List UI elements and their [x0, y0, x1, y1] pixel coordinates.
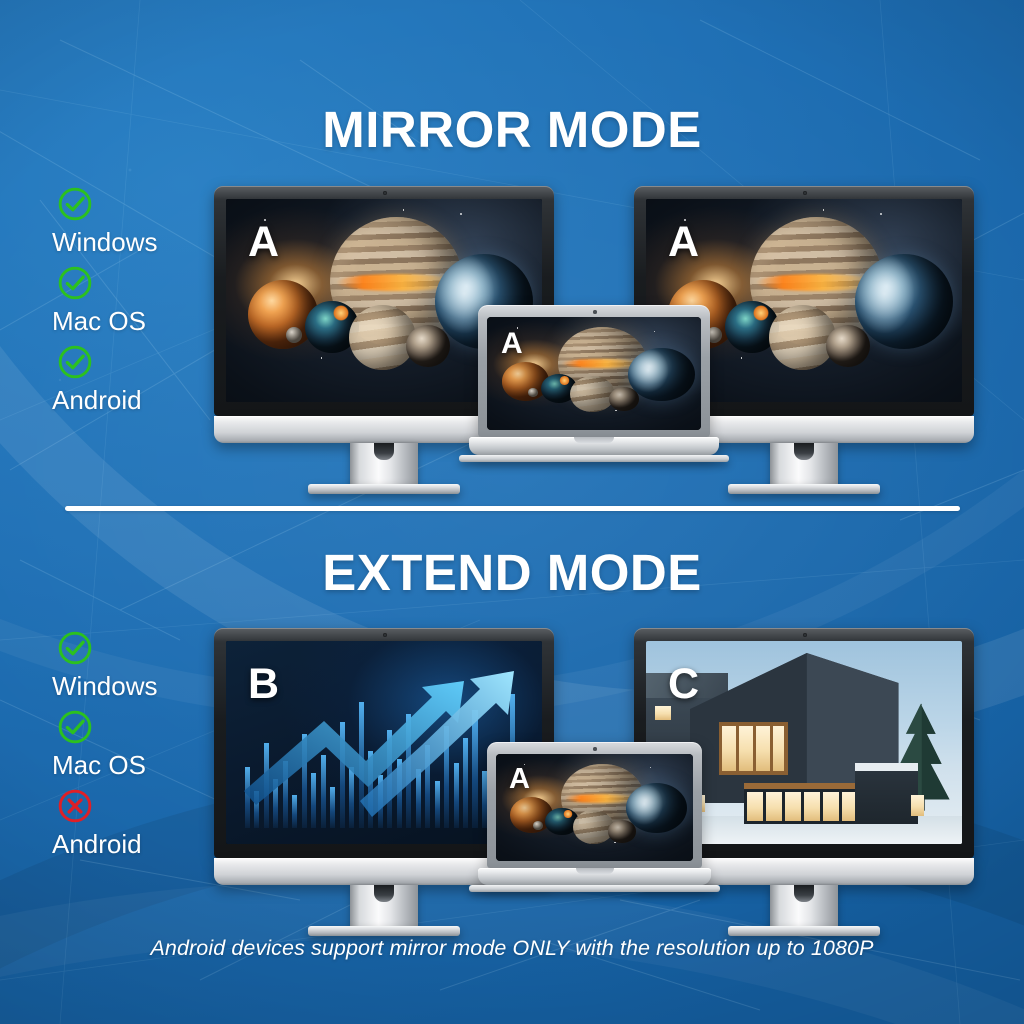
os-label-android-mirror: Android [52, 385, 238, 415]
os-label-android-extend: Android [52, 829, 238, 859]
laptop-screen-a: A [487, 317, 701, 430]
screen-letter-a: A [668, 221, 699, 264]
laptop-base [469, 437, 719, 455]
webcam-icon [383, 191, 387, 195]
os-row-macos-extend: Mac OS [48, 709, 238, 780]
screen-letter-b: B [248, 663, 279, 706]
monitor-stand-neck [770, 885, 838, 929]
check-circle-icon [57, 709, 93, 745]
screen-letter-a: A [501, 329, 523, 359]
os-row-windows-mirror: Windows [48, 186, 238, 257]
monitor-stand-base [308, 484, 460, 494]
check-circle-icon [57, 630, 93, 666]
laptop-lid: A [487, 742, 702, 868]
os-label-macos-extend: Mac OS [52, 750, 238, 780]
laptop-base [478, 868, 711, 885]
monitor-stand-base [728, 926, 880, 936]
monitor-stand-neck [350, 443, 418, 487]
webcam-icon [593, 310, 597, 314]
webcam-icon [803, 191, 807, 195]
mirror-os-support-list: Windows Mac OS Android [48, 186, 238, 423]
laptop-front-lip [469, 885, 720, 892]
os-row-android-extend: Android [48, 788, 238, 859]
webcam-icon [803, 633, 807, 637]
mirror-mode-title: MIRROR MODE [0, 104, 1024, 155]
laptop-screen-a: A [496, 754, 693, 861]
os-label-macos-mirror: Mac OS [52, 306, 238, 336]
mirror-laptop-center: A [478, 305, 710, 455]
os-label-windows-mirror: Windows [52, 227, 238, 257]
monitor-stand-neck [770, 443, 838, 487]
laptop-front-lip [459, 455, 729, 462]
check-circle-icon [57, 344, 93, 380]
cross-circle-icon [57, 788, 93, 824]
monitor-stand-base [728, 484, 880, 494]
laptop-lid: A [478, 305, 710, 437]
section-divider [65, 506, 960, 511]
extend-mode-title: EXTEND MODE [0, 547, 1024, 598]
monitor-stand-neck [350, 885, 418, 929]
extend-laptop-center: A [487, 742, 702, 885]
os-row-android-mirror: Android [48, 344, 238, 415]
os-row-macos-mirror: Mac OS [48, 265, 238, 336]
check-circle-icon [57, 186, 93, 222]
monitor-stand-base [308, 926, 460, 936]
screen-letter-c: C [668, 663, 699, 706]
os-label-windows-extend: Windows [52, 671, 238, 701]
screen-letter-a: A [509, 765, 530, 794]
webcam-icon [593, 747, 597, 751]
poster-canvas: MIRROR MODE Windows Mac OS Android [0, 0, 1024, 1024]
screen-letter-a: A [248, 221, 279, 264]
check-circle-icon [57, 265, 93, 301]
extend-os-support-list: Windows Mac OS Android [48, 630, 238, 867]
footnote-text: Android devices support mirror mode ONLY… [0, 936, 1024, 961]
os-row-windows-extend: Windows [48, 630, 238, 701]
webcam-icon [383, 633, 387, 637]
